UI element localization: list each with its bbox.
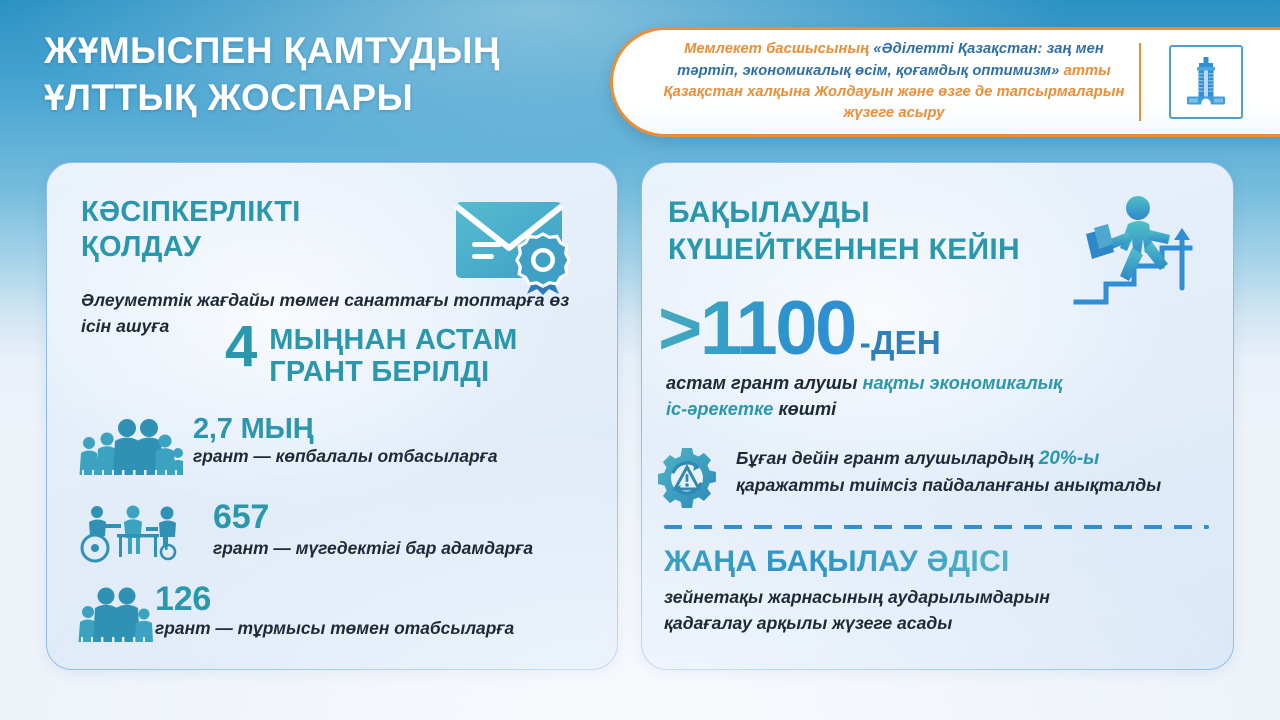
grant-total-words-line-2: ГРАНТ БЕРІЛДІ	[269, 356, 517, 388]
envelope-certificate-icon	[452, 192, 576, 296]
new-method-text-line-1: зейнетақы жарнасының аударылымдарын	[664, 585, 1184, 611]
grant-total-number: 4	[225, 321, 256, 372]
left-card-heading: КӘСІПКЕРЛІКТІ ҚОЛДАУ	[81, 195, 401, 266]
page-title: ЖҰМЫСПЕН ҚАМТУДЫҢ ҰЛТТЫҚ ЖОСПАРЫ	[44, 28, 624, 121]
new-method-text: зейнетақы жарнасының аударылымдарын қада…	[664, 585, 1184, 636]
infographic-page: ЖҰМЫСПЕН ҚАМТУДЫҢ ҰЛТТЫҚ ЖОСПАРЫ Мемлеке…	[0, 0, 1280, 720]
right-card-heading: БАҚЫЛАУДЫ КҮШЕЙТКЕННЕН КЕЙІН	[668, 195, 1088, 268]
right-card-lead-text: астам грант алушы нақты экономикалық іс-…	[666, 371, 1186, 423]
big-statistic-suffix: -ДЕН	[860, 324, 941, 362]
banner-divider	[1139, 43, 1141, 121]
family-group-icon	[75, 415, 183, 479]
person-climbing-stairs-icon	[1066, 192, 1208, 308]
page-title-line-2: ҰЛТТЫҚ ЖОСПАРЫ	[44, 75, 624, 122]
warning-plain-1: Бұған дейін грант алушылардың	[736, 448, 1039, 468]
warning-plain-2: қаражатты тиімсіз пайдаланғаны анықталды	[736, 475, 1161, 495]
banner-text: Мемлекет басшысының «Әділетті Қазақстан:…	[613, 39, 1131, 125]
left-card-heading-line-1: КӘСІПКЕРЛІКТІ	[81, 195, 401, 230]
page-title-line-1: ЖҰМЫСПЕН ҚАМТУДЫҢ	[44, 28, 624, 75]
big-statistic-block: >1100 -ДЕН	[658, 295, 941, 363]
gear-warning-recycle-icon	[656, 447, 718, 509]
stat-row-large-families: 2,7 МЫҢ грант — көпбалалы отбасыларға	[75, 415, 595, 491]
disabled-persons-working-icon	[75, 500, 183, 564]
right-lead-highlight-2: іс-әрекетке	[666, 399, 773, 419]
misuse-warning-text: Бұған дейін грант алушылардың 20%-ы қара…	[736, 445, 1161, 498]
right-lead-plain-1: астам грант алушы	[666, 373, 862, 393]
government-building-icon	[1180, 55, 1232, 109]
misuse-warning-row: Бұған дейін грант алушылардың 20%-ы қара…	[656, 445, 1221, 509]
warning-highlight: 20%-ы	[1039, 448, 1100, 469]
dashed-divider	[664, 525, 1209, 529]
right-card-heading-line-2: КҮШЕЙТКЕННЕН КЕЙІН	[668, 232, 1088, 269]
grant-total-block: 4 МЫҢНАН АСТАМ ГРАНТ БЕРІЛДІ	[225, 321, 517, 389]
grant-total-words: МЫҢНАН АСТАМ ГРАНТ БЕРІЛДІ	[269, 321, 517, 389]
stat-label: грант — мүгедектігі бар адамдарға	[213, 538, 613, 560]
banner-text-segment-1: Мемлекет басшысының	[684, 41, 873, 57]
stat-label: грант — тұрмысы төмен отабсыларға	[155, 618, 555, 640]
presidential-address-banner: Мемлекет басшысының «Әділетті Қазақстан:…	[610, 27, 1280, 137]
stat-number: 126	[155, 582, 555, 617]
government-building-logo	[1169, 45, 1243, 119]
big-statistic-number: >1100	[658, 295, 855, 363]
new-method-heading: ЖАҢА БАҚЫЛАУ ӘДІСІ	[664, 545, 1010, 579]
right-lead-plain-2: көшті	[773, 399, 836, 419]
right-card-heading-line-1: БАҚЫЛАУДЫ	[668, 195, 1088, 232]
stat-label: грант — көпбалалы отбасыларға	[193, 446, 593, 468]
stat-number: 657	[213, 500, 613, 535]
stat-row-low-income-families: 126 грант — тұрмысы төмен отабсыларға	[75, 582, 595, 658]
stat-number: 2,7 МЫҢ	[193, 415, 593, 445]
right-lead-highlight-1: нақты экономикалық	[862, 373, 1062, 393]
grant-total-words-line-1: МЫҢНАН АСТАМ	[269, 324, 517, 356]
stat-row-disabled-persons: 657 грант — мүгедектігі бар адамдарға	[75, 500, 595, 576]
new-method-text-line-2: қадағалау арқылы жүзеге асады	[664, 611, 1184, 637]
left-card-heading-line-2: ҚОЛДАУ	[81, 230, 401, 265]
